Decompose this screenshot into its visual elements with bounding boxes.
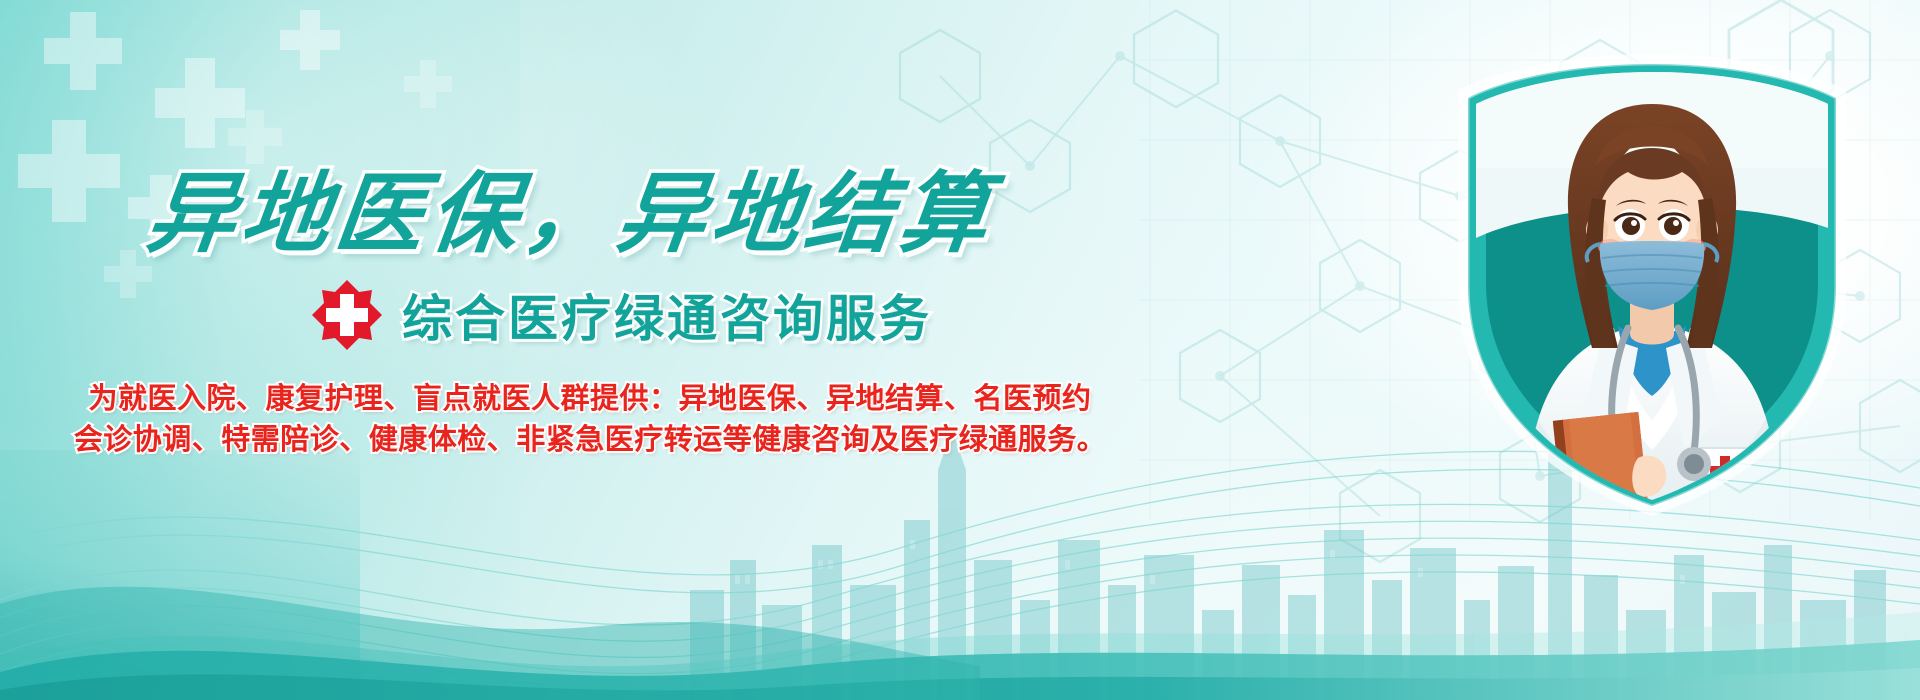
subtitle-row: 综合医疗绿通咨询服务 [310, 278, 932, 352]
description-line-2: 会诊协调、特需陪诊、健康体检、非紧急医疗转运等健康咨询及医疗绿通服务。 [0, 419, 1180, 460]
doctor-shield-emblem [1442, 48, 1862, 518]
banner-content: 异地医保，异地结算 综合医疗绿通咨询服务 为就医入院、康复护理、盲点就医人群提供… [0, 0, 1180, 700]
description-block: 为就医入院、康复护理、盲点就医人群提供：异地医保、异地结算、名医预约 会诊协调、… [0, 378, 1180, 460]
description-line-1: 为就医入院、康复护理、盲点就医人群提供：异地医保、异地结算、名医预约 [0, 378, 1180, 419]
subtitle-text: 综合医疗绿通咨询服务 [402, 279, 932, 351]
medical-service-banner: 异地医保，异地结算 综合医疗绿通咨询服务 为就医入院、康复护理、盲点就医人群提供… [0, 0, 1920, 700]
page-title: 异地医保，异地结算 [142, 168, 999, 260]
medical-cross-badge-icon [310, 278, 384, 352]
